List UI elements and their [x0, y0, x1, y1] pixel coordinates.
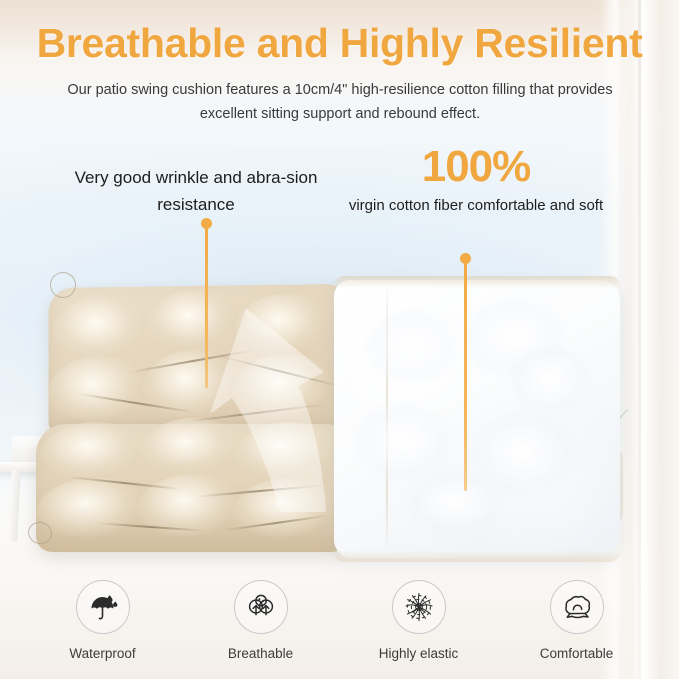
page-subtitle: Our patio swing cushion features a 10cm/…: [60, 78, 620, 126]
product-infographic: Breathable and Highly Resilient Our pati…: [0, 0, 679, 679]
feature-label: Highly elastic: [367, 646, 471, 661]
cotton-fold-line: [386, 284, 388, 552]
cloud-arrows-icon: [245, 591, 277, 623]
callout-right-text: virgin cotton fiber comfortable and soft: [340, 194, 612, 218]
pointer-line-right: [459, 253, 471, 491]
feature-highly-elastic: Highly elastic: [367, 580, 471, 661]
cushion-seat: [36, 424, 348, 552]
cotton-edge-top: [334, 276, 620, 288]
feature-label: Comfortable: [525, 646, 629, 661]
feature-badge-row: Waterproof: [0, 580, 679, 661]
cushion-image: [36, 286, 346, 556]
pointer-stem: [464, 258, 467, 491]
feature-icon-ring: [392, 580, 446, 634]
pointer-stem: [205, 223, 208, 388]
callout-percent: 100%: [340, 142, 612, 192]
pointer-line-left: [200, 218, 212, 388]
cotton-edge-bottom: [334, 550, 620, 562]
feature-label: Waterproof: [51, 646, 155, 661]
product-photo: [0, 250, 679, 580]
feature-icon-ring: [234, 580, 288, 634]
umbrella-icon: [87, 591, 119, 623]
mesh-weave-icon: [402, 590, 436, 624]
pillow-icon: [561, 591, 593, 623]
feature-comfortable: Comfortable: [525, 580, 629, 661]
feature-icon-ring: [76, 580, 130, 634]
feature-breathable: Breathable: [209, 580, 313, 661]
cushion-backrest: [49, 284, 348, 438]
feature-icon-ring: [550, 580, 604, 634]
callout-right: 100% virgin cotton fiber comfortable and…: [340, 142, 612, 218]
callout-left-text: Very good wrinkle and abra-sion resistan…: [62, 164, 330, 218]
page-title: Breathable and Highly Resilient: [0, 20, 679, 67]
feature-waterproof: Waterproof: [51, 580, 155, 661]
feature-label: Breathable: [209, 646, 313, 661]
cotton-fiber-image: [334, 280, 620, 558]
